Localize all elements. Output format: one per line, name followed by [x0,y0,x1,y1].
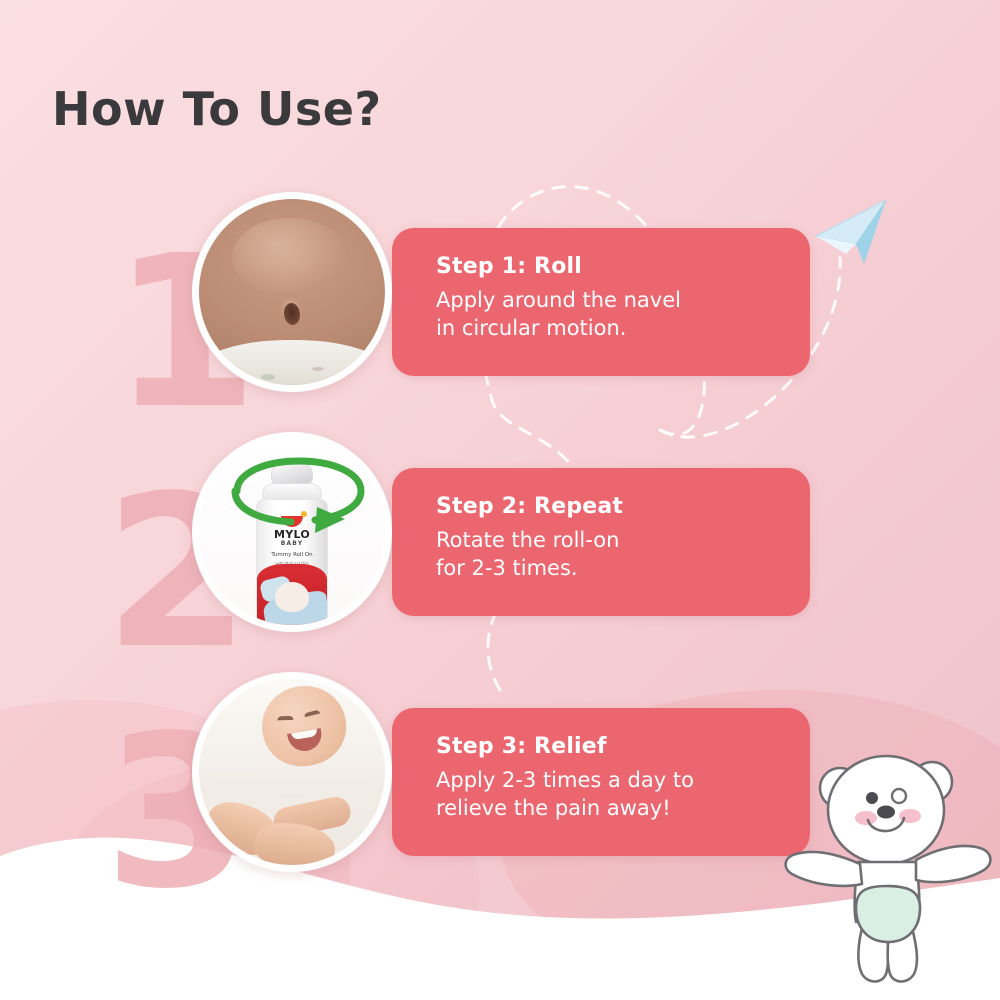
bear-eye-right [892,789,906,803]
bear-arm-right [916,846,990,882]
how-to-use-infographic: How To Use? 1 2 3 Step 1: Roll Apply aro… [0,0,1000,1000]
step-card-2-body: Rotate the roll-on for 2-3 times. [436,527,810,582]
bear-diaper [856,886,920,942]
step-image-circle-1 [192,192,392,392]
baby-smile [287,728,324,754]
baby-belly-photo [199,199,385,385]
bear-blush-left [855,811,877,825]
paper-plane-icon [812,196,890,268]
belly-skin [199,199,385,385]
bottle-scene: MYLO BABY Tummy Roll On with Natural Oil… [199,439,385,625]
step-card-3[interactable]: Step 3: Relief Apply 2-3 times a day to … [392,708,810,856]
smiling-baby-photo [199,679,385,865]
baby-eye-right [304,710,320,718]
step-card-3-body: Apply 2-3 times a day to relieve the pai… [436,767,810,822]
step-row-2: Step 2: Repeat Rotate the roll-on for 2-… [0,432,1000,642]
step-image-circle-2: MYLO BABY Tummy Roll On with Natural Oil… [192,432,392,632]
step-card-2[interactable]: Step 2: Repeat Rotate the roll-on for 2-… [392,468,810,616]
rotation-arrow-icon [199,439,385,625]
baby-scene [199,679,385,865]
step-card-3-title: Step 3: Relief [436,734,810,759]
step-card-1[interactable]: Step 1: Roll Apply around the navel in c… [392,228,810,376]
baby-eye-left [277,716,293,721]
step-card-1-body: Apply around the navel in circular motio… [436,287,810,342]
step-image-circle-3 [192,672,392,872]
bear-arm-left [786,852,862,886]
step-card-2-title: Step 2: Repeat [436,494,810,519]
step-card-1-title: Step 1: Roll [436,254,810,279]
bear-mascot [782,736,996,986]
roll-on-bottle-photo: MYLO BABY Tummy Roll On with Natural Oil… [199,439,385,625]
diaper [199,340,385,385]
bear-eye-left [866,792,878,804]
navel [283,302,302,326]
bear-nose [877,806,895,819]
belly-highlight [232,218,347,296]
